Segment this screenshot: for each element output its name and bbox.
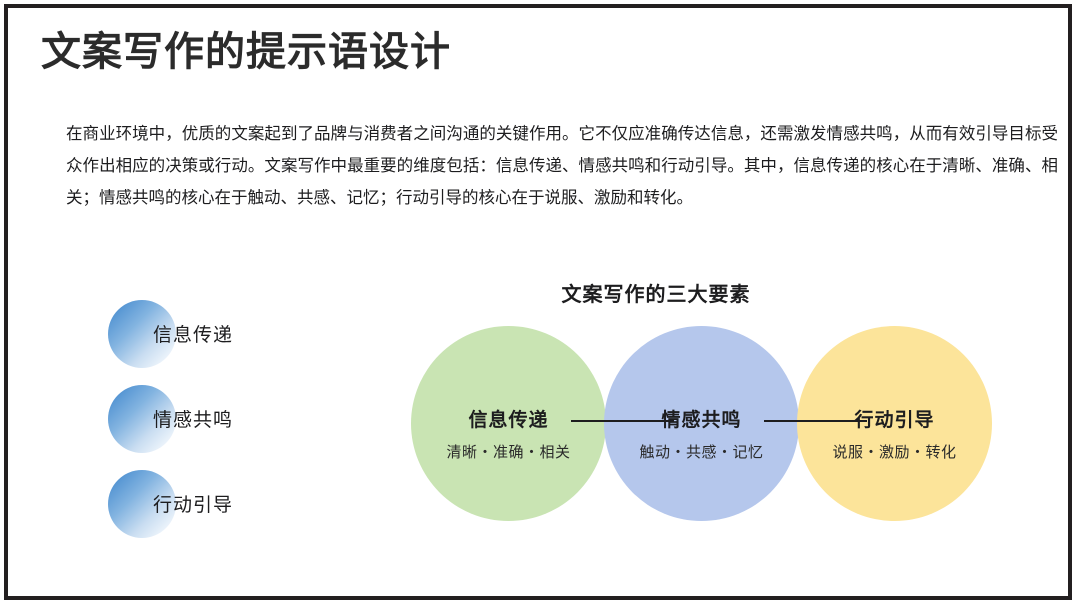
venn-subtitle: 触动・共感・记忆 xyxy=(604,443,799,463)
venn-subtitle: 清晰・准确・相关 xyxy=(411,443,606,463)
venn-label-emotion: 情感共鸣 触动・共感・记忆 xyxy=(604,408,799,463)
slide-frame: 文案写作的提示语设计 在商业环境中，优质的文案起到了品牌与消费者之间沟通的关键作… xyxy=(4,4,1072,600)
venn-name: 情感共鸣 xyxy=(604,408,799,434)
venn-name: 行动引导 xyxy=(797,408,992,434)
list-item: 行动引导 xyxy=(108,470,348,555)
list-item: 信息传递 xyxy=(108,300,348,385)
bubble-label: 情感共鸣 xyxy=(153,405,233,432)
bubble-label: 信息传递 xyxy=(153,320,233,347)
list-item: 情感共鸣 xyxy=(108,385,348,470)
page-title: 文案写作的提示语设计 xyxy=(41,28,451,76)
three-elements-diagram: 文案写作的三大要素 信息传递 清晰・准确・相关 情感共鸣 触动・共感・记忆 行动… xyxy=(406,278,1006,578)
bubble-list: 信息传递 情感共鸣 行动引导 xyxy=(108,300,348,555)
venn-label-action: 行动引导 说服・激励・转化 xyxy=(797,408,992,463)
venn-label-information: 信息传递 清晰・准确・相关 xyxy=(411,408,606,463)
venn-subtitle: 说服・激励・转化 xyxy=(797,443,992,463)
body-paragraph: 在商业环境中，优质的文案起到了品牌与消费者之间沟通的关键作用。它不仅应准确传达信… xyxy=(66,118,1058,214)
diagram-title: 文案写作的三大要素 xyxy=(406,278,906,307)
bubble-label: 行动引导 xyxy=(153,490,233,517)
venn-name: 信息传递 xyxy=(411,408,606,434)
venn-group: 信息传递 清晰・准确・相关 情感共鸣 触动・共感・记忆 行动引导 说服・激励・转… xyxy=(406,326,1006,541)
